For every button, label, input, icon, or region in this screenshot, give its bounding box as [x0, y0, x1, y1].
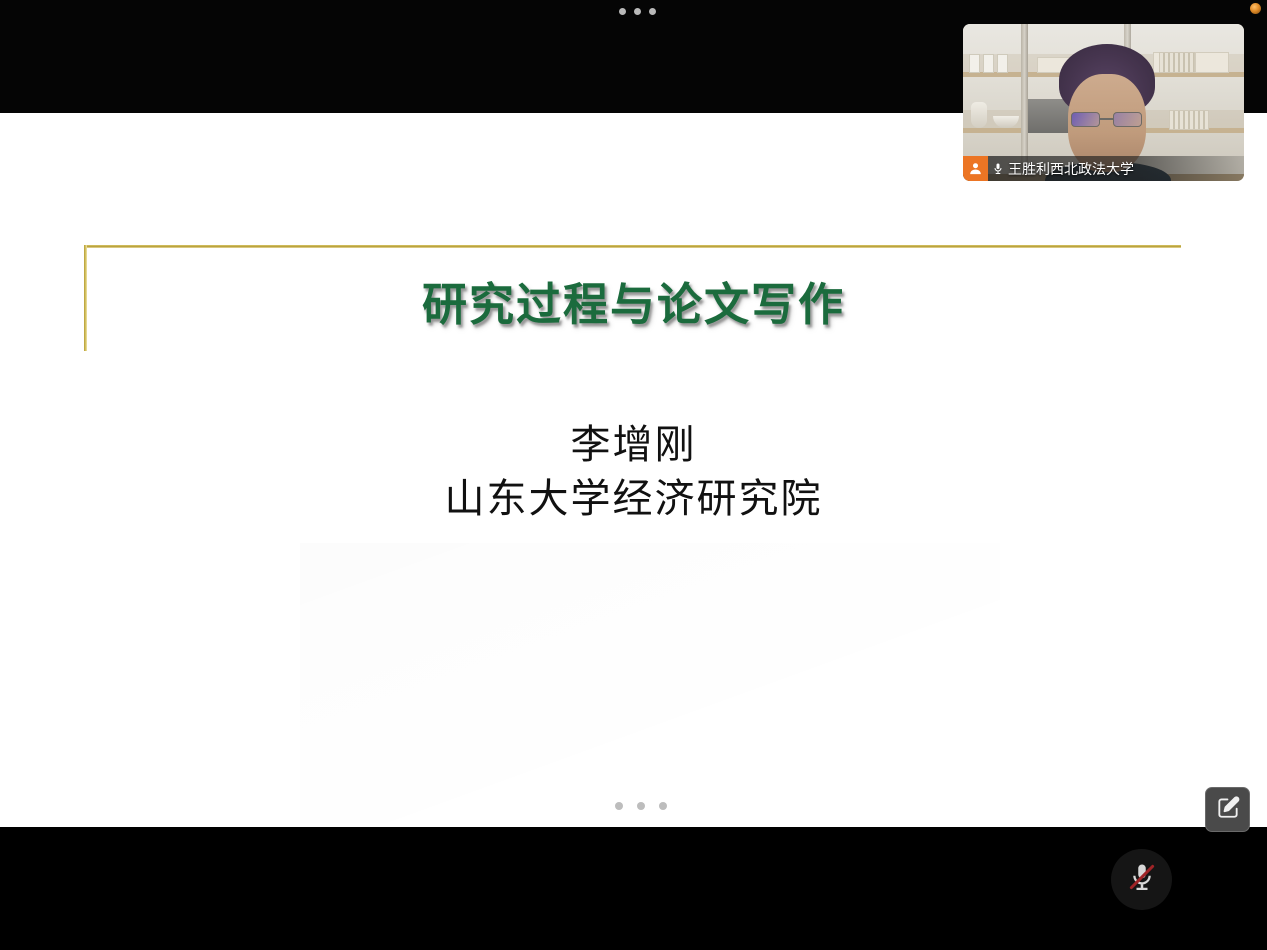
participant-name-label: 王胜利西北政法大学	[1008, 159, 1134, 179]
slide-progress-dots-icon	[615, 802, 667, 810]
binder	[997, 54, 1008, 73]
lens-right	[1113, 112, 1142, 127]
lens-left	[1071, 112, 1100, 127]
vase-decor	[971, 102, 987, 128]
annotate-button[interactable]	[1205, 787, 1250, 832]
striped-books	[1169, 110, 1209, 130]
dot	[634, 8, 641, 15]
slide-author-name: 李增刚	[0, 418, 1267, 472]
storage-box	[1195, 52, 1229, 73]
slide-title: 研究过程与论文写作	[0, 268, 1267, 333]
slide-author-block: 李增刚 山东大学经济研究院	[0, 418, 1267, 526]
dot	[619, 8, 626, 15]
person-icon	[963, 156, 988, 181]
slide-frame-bottom-rule	[276, 529, 1176, 532]
meeting-screen-share-view: 研究过程与论文写作 李增刚 山东大学经济研究院	[0, 0, 1267, 950]
binder	[969, 54, 980, 73]
microphone-muted-icon	[1127, 862, 1157, 897]
binder	[983, 54, 994, 73]
bridge	[1100, 118, 1113, 120]
participant-video-tile[interactable]: 王胜利西北政法大学	[963, 24, 1244, 181]
more-options-icon[interactable]	[619, 8, 656, 15]
microphone-icon	[988, 161, 1008, 176]
dot	[659, 802, 667, 810]
glasses-icon	[1071, 112, 1143, 127]
dot	[637, 802, 645, 810]
pencil-annotate-icon	[1215, 794, 1241, 825]
slide-watermark	[300, 543, 1000, 823]
bottom-toolbar	[0, 827, 1267, 950]
dot	[615, 802, 623, 810]
slide-frame-top-rule	[84, 245, 1181, 248]
shared-slide-content[interactable]: 研究过程与论文写作 李增刚 山东大学经济研究院	[0, 113, 1267, 827]
mute-button[interactable]	[1111, 849, 1172, 910]
recording-dot-icon	[1250, 3, 1261, 14]
striped-books	[1159, 52, 1195, 73]
slide-author-organization: 山东大学经济研究院	[0, 472, 1267, 526]
dot	[649, 8, 656, 15]
participant-name-bar: 王胜利西北政法大学	[963, 156, 1244, 181]
